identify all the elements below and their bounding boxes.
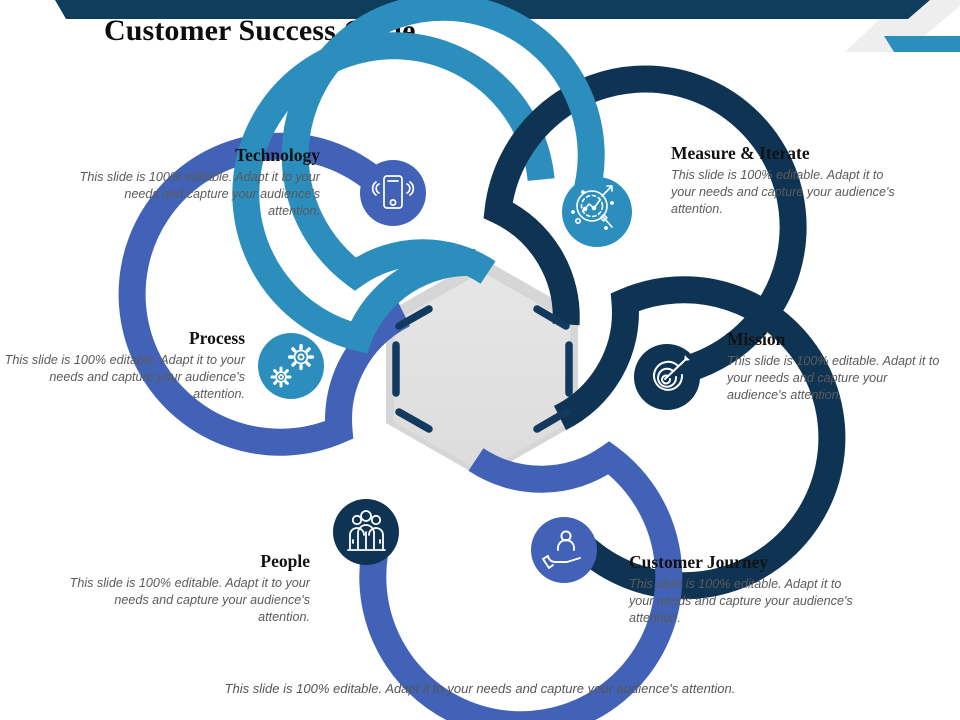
icon-circle-customer-journey[interactable] (531, 517, 597, 583)
icon-circle-measure-iterate[interactable] (562, 177, 632, 247)
icon-circle-technology[interactable] (360, 160, 426, 226)
icon-circle-bg-technology (360, 160, 426, 226)
segment-body-process: This slide is 100% editable. Adapt it to… (0, 352, 245, 403)
segment-text-mission: Mission This slide is 100% editable. Ada… (727, 329, 945, 404)
center-hexagon (386, 258, 578, 478)
segment-body-mission: This slide is 100% editable. Adapt it to… (727, 353, 945, 404)
icon-circle-bg-customer-journey (531, 517, 597, 583)
footer-note: This slide is 100% editable. Adapt it to… (0, 681, 960, 696)
icon-circle-process[interactable] (258, 333, 324, 399)
segment-text-measure-iterate: Measure & Iterate This slide is 100% edi… (671, 143, 903, 218)
segment-text-technology: Technology This slide is 100% editable. … (70, 145, 320, 220)
segment-heading-measure-iterate: Measure & Iterate (671, 143, 903, 165)
segment-text-process: Process This slide is 100% editable. Ada… (0, 328, 245, 403)
segment-body-measure-iterate: This slide is 100% editable. Adapt it to… (671, 167, 903, 218)
segment-text-customer-journey: Customer Journey This slide is 100% edit… (629, 552, 861, 627)
segment-heading-mission: Mission (727, 329, 945, 351)
segment-body-people: This slide is 100% editable. Adapt it to… (60, 575, 310, 626)
segment-heading-process: Process (0, 328, 245, 350)
segment-body-customer-journey: This slide is 100% editable. Adapt it to… (629, 576, 861, 627)
segment-heading-customer-journey: Customer Journey (629, 552, 861, 574)
icon-circle-people[interactable] (333, 499, 399, 565)
icon-circle-bg-process (258, 333, 324, 399)
segment-heading-technology: Technology (70, 145, 320, 167)
icon-circle-mission[interactable] (634, 344, 700, 410)
segment-text-people: People This slide is 100% editable. Adap… (60, 551, 310, 626)
segment-body-technology: This slide is 100% editable. Adapt it to… (70, 169, 320, 220)
segment-heading-people: People (60, 551, 310, 573)
